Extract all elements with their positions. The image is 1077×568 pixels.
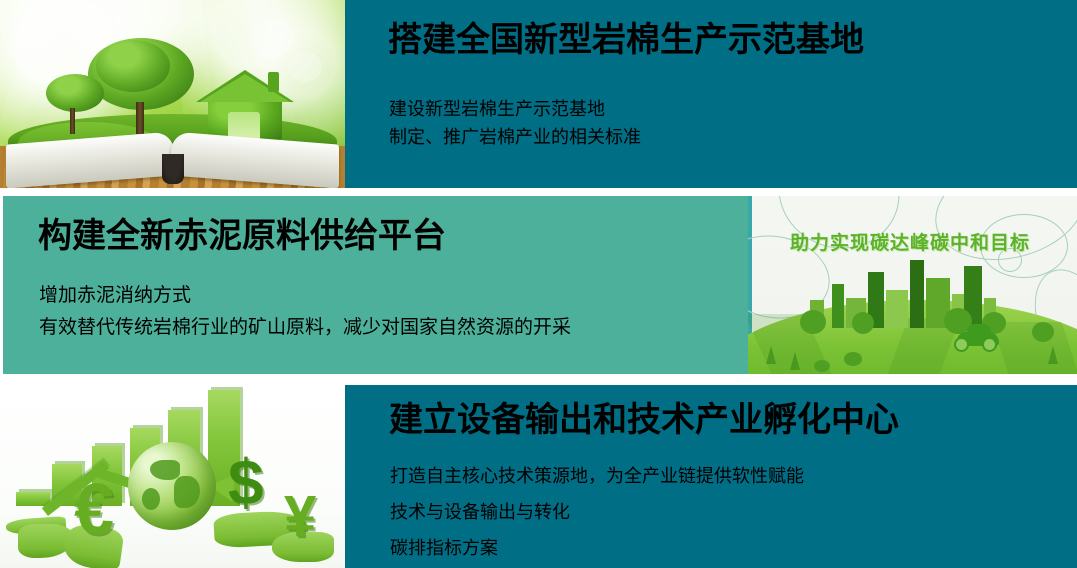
panel-3-line-1: 打造自主核心技术策源地，为全产业链提供软性赋能 xyxy=(390,458,804,494)
building xyxy=(832,284,844,328)
panel-3-body: 打造自主核心技术策源地，为全产业链提供软性赋能 技术与设备输出与转化 碳排指标方… xyxy=(390,458,804,566)
globe xyxy=(128,442,216,530)
chart-bar xyxy=(16,492,50,506)
panel-2-line-2: 有效替代传统岩棉行业的矿山原料，减少对国家自然资源的开采 xyxy=(39,312,571,344)
tree-bush xyxy=(1032,322,1054,342)
eco-city-illustration: 助力实现碳达峰碳中和目标 xyxy=(748,196,1077,374)
panel-1-title: 搭建全国新型岩棉生产示范基地 xyxy=(388,20,864,60)
tree-small-canopy xyxy=(46,74,104,112)
electric-car-wheel xyxy=(982,337,997,352)
tree-bush xyxy=(844,352,862,366)
slide-canvas: 搭建全国新型岩棉生产示范基地 建设新型岩棉生产示范基地 制定、推广岩棉产业的相关… xyxy=(0,0,1077,568)
tree-bush xyxy=(814,360,830,372)
panel-2-line-1: 增加赤泥消纳方式 xyxy=(39,280,571,312)
green-growth-photo: € $ ¥ xyxy=(0,380,345,568)
grass-house-chimney xyxy=(268,72,279,92)
dollar-symbol: $ xyxy=(228,450,264,514)
tree-bush xyxy=(852,312,874,334)
electric-car-wheel xyxy=(954,337,969,352)
panel-2-body: 增加赤泥消纳方式 有效替代传统岩棉行业的矿山原料，减少对国家自然资源的开采 xyxy=(39,280,571,344)
conifer-tree xyxy=(790,352,800,370)
electric-car-cabin xyxy=(967,324,991,334)
conifer-tree xyxy=(1048,346,1058,364)
building xyxy=(910,260,924,328)
panel-1-line-1: 建设新型岩棉生产示范基地 xyxy=(389,95,641,123)
globe-continent xyxy=(142,488,160,510)
bokeh-dot xyxy=(250,18,294,58)
panel-3-line-2: 技术与设备输出与转化 xyxy=(390,494,804,530)
globe-continent xyxy=(174,476,200,508)
panel-1-line-2: 制定、推广岩棉产业的相关标准 xyxy=(389,123,641,151)
tree-small-trunk xyxy=(70,108,75,134)
conifer-tree xyxy=(766,346,776,364)
yen-symbol: ¥ xyxy=(284,488,316,546)
building xyxy=(886,290,908,328)
panel-3-line-3: 碳排指标方案 xyxy=(390,530,804,566)
tree-bush xyxy=(800,310,826,334)
panel-2-title: 构建全新赤泥原料供给平台 xyxy=(38,216,446,256)
bokeh-dot xyxy=(16,10,76,56)
panel-1-body: 建设新型岩棉生产示范基地 制定、推广岩棉产业的相关标准 xyxy=(389,95,641,151)
globe-continent xyxy=(150,460,180,480)
eco-book-photo xyxy=(0,0,345,188)
tree-large-canopy-top xyxy=(96,40,170,92)
panel-3-title: 建立设备输出和技术产业孵化中心 xyxy=(389,400,899,440)
book-spine xyxy=(162,154,184,184)
euro-symbol: € xyxy=(74,474,114,546)
tree-large-trunk xyxy=(136,102,144,134)
city-headline: 助力实现碳达峰碳中和目标 xyxy=(790,228,1030,255)
